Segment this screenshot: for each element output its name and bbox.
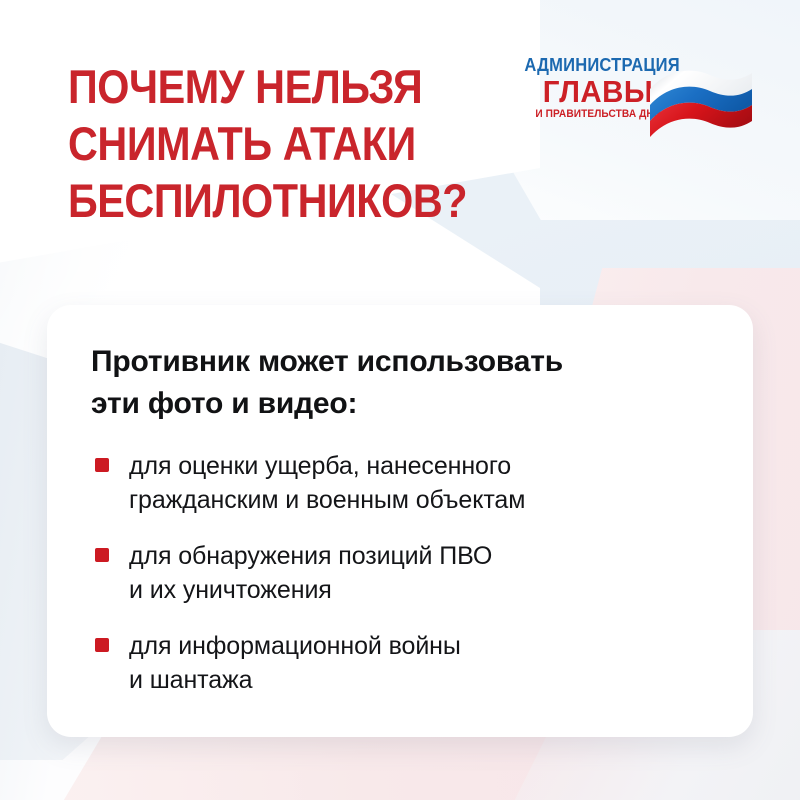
list-item: для обнаружения позиций ПВО и их уничтож… bbox=[91, 539, 709, 607]
content-card: Противник может использовать эти фото и … bbox=[47, 305, 753, 737]
reasons-list: для оценки ущерба, нанесенного гражданск… bbox=[91, 449, 709, 697]
list-item-text: для информационной войны и шантажа bbox=[129, 629, 461, 697]
square-bullet-icon bbox=[95, 458, 109, 472]
list-item: для информационной войны и шантажа bbox=[91, 629, 709, 697]
headline-line-3: БЕСПИЛОТНИКОВ? bbox=[68, 172, 446, 229]
card-heading-line-2: эти фото и видео: bbox=[91, 383, 709, 425]
list-item: для оценки ущерба, нанесенного гражданск… bbox=[91, 449, 709, 517]
list-item-line: для обнаружения позиций ПВО bbox=[129, 539, 492, 573]
card-heading-line-1: Противник может использовать bbox=[91, 341, 709, 383]
headline-line-1: ПОЧЕМУ НЕЛЬЗЯ bbox=[68, 58, 446, 115]
square-bullet-icon bbox=[95, 638, 109, 652]
list-item-text: для обнаружения позиций ПВО и их уничтож… bbox=[129, 539, 492, 607]
poster-canvas: ПОЧЕМУ НЕЛЬЗЯ СНИМАТЬ АТАКИ БЕСПИЛОТНИКО… bbox=[0, 0, 800, 800]
headline: ПОЧЕМУ НЕЛЬЗЯ СНИМАТЬ АТАКИ БЕСПИЛОТНИКО… bbox=[68, 58, 498, 229]
organization-logo: АДМИНИСТРАЦИЯ ГЛАВЫ И ПРАВИТЕЛЬСТВА ДНР bbox=[514, 55, 754, 147]
headline-line-2: СНИМАТЬ АТАКИ bbox=[68, 115, 446, 172]
russian-tricolor-flag-icon bbox=[648, 61, 756, 141]
list-item-text: для оценки ущерба, нанесенного гражданск… bbox=[129, 449, 525, 517]
list-item-line: и шантажа bbox=[129, 663, 461, 697]
list-item-line: для информационной войны bbox=[129, 629, 461, 663]
list-item-line: гражданским и военным объектам bbox=[129, 483, 525, 517]
list-item-line: и их уничтожения bbox=[129, 573, 492, 607]
list-item-line: для оценки ущерба, нанесенного bbox=[129, 449, 525, 483]
square-bullet-icon bbox=[95, 548, 109, 562]
card-heading: Противник может использовать эти фото и … bbox=[91, 341, 709, 425]
